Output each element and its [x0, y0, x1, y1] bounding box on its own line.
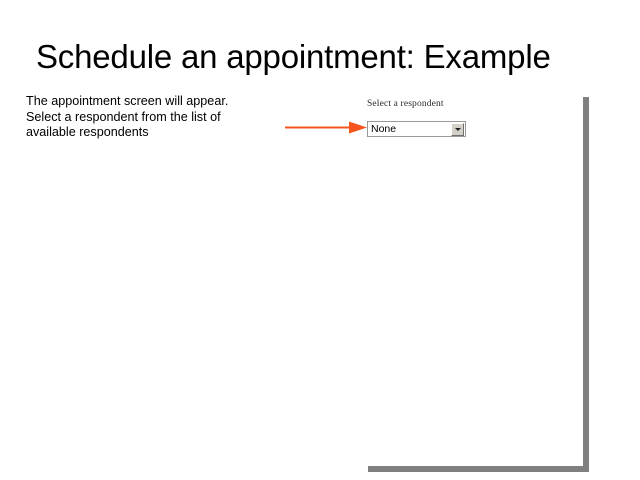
page-title: Schedule an appointment: Example	[36, 38, 616, 76]
respondent-selector-group: Select a respondent None	[367, 99, 444, 110]
annotation-arrow-icon	[283, 117, 369, 142]
dropdown-selected-value: None	[368, 122, 396, 136]
frame-shadow-bottom	[368, 466, 589, 472]
dropdown-label: Select a respondent	[367, 99, 444, 110]
respondent-dropdown[interactable]: None	[367, 121, 466, 137]
slide-canvas: Schedule an appointment: Example The app…	[0, 0, 640, 480]
caret-glyph	[455, 128, 461, 131]
body-paragraph: The appointment screen will appear. Sele…	[26, 94, 252, 141]
frame-shadow-right	[583, 97, 589, 472]
chevron-down-icon[interactable]	[451, 123, 464, 136]
